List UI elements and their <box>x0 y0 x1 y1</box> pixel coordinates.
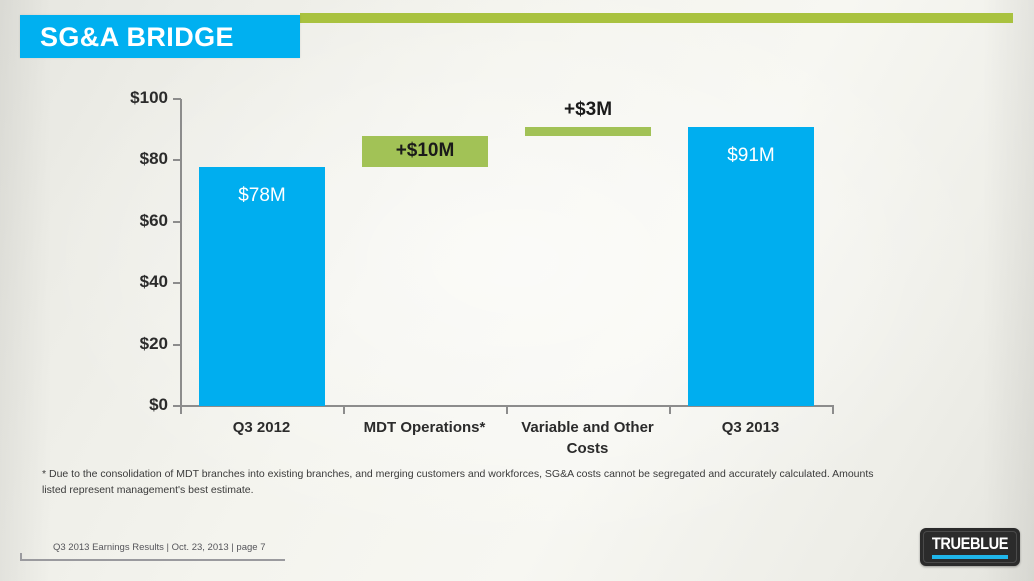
y-axis-tick-label: $0 <box>98 395 168 415</box>
slide-canvas: SG&A BRIDGE $0$20$40$60$80$100 $78M+$10M… <box>0 0 1034 581</box>
chart-bar[interactable] <box>525 127 651 136</box>
y-axis-tick <box>173 159 181 161</box>
bar-value-label: $91M <box>688 145 814 167</box>
logo-underline <box>932 555 1008 559</box>
y-axis-tick <box>173 282 181 284</box>
logo-wordmark: TRUEBLUE <box>927 534 1013 554</box>
y-axis-tick-label: $80 <box>98 149 168 169</box>
y-axis-line <box>180 99 182 407</box>
y-axis-tick-label: $60 <box>98 211 168 231</box>
x-axis-category-label: Variable and Other Costs <box>506 417 669 459</box>
y-axis-tick-label: $20 <box>98 334 168 354</box>
x-axis-tick <box>669 405 671 414</box>
bar-value-label: +$10M <box>362 140 488 162</box>
chart-bar[interactable] <box>688 127 814 406</box>
y-axis-tick-label: $100 <box>98 88 168 108</box>
bar-value-label: +$3M <box>525 99 651 121</box>
bar-value-label: $78M <box>199 185 325 207</box>
footer-meta: Q3 2013 Earnings Results | Oct. 23, 2013… <box>53 542 265 553</box>
x-axis-category-label: MDT Operations* <box>343 417 506 438</box>
x-axis-tick <box>180 405 182 414</box>
x-axis-category-label: Q3 2013 <box>669 417 832 438</box>
trueblue-logo: TRUEBLUE <box>920 528 1020 566</box>
page-title: SG&A BRIDGE <box>40 22 234 53</box>
footnote-text: * Due to the consolidation of MDT branch… <box>42 466 887 498</box>
sga-bridge-chart: $0$20$40$60$80$100 $78M+$10M+$3M$91M Q3 … <box>0 0 1034 470</box>
x-axis-tick <box>832 405 834 414</box>
x-axis-tick <box>343 405 345 414</box>
y-axis-tick <box>173 98 181 100</box>
header-accent-bar <box>300 13 1013 23</box>
footer-divider-cap <box>20 553 22 561</box>
y-axis-tick <box>173 221 181 223</box>
footer-divider <box>20 559 285 561</box>
x-axis-tick <box>506 405 508 414</box>
x-axis-category-label: Q3 2012 <box>180 417 343 438</box>
y-axis-tick <box>173 344 181 346</box>
y-axis-tick-label: $40 <box>98 272 168 292</box>
